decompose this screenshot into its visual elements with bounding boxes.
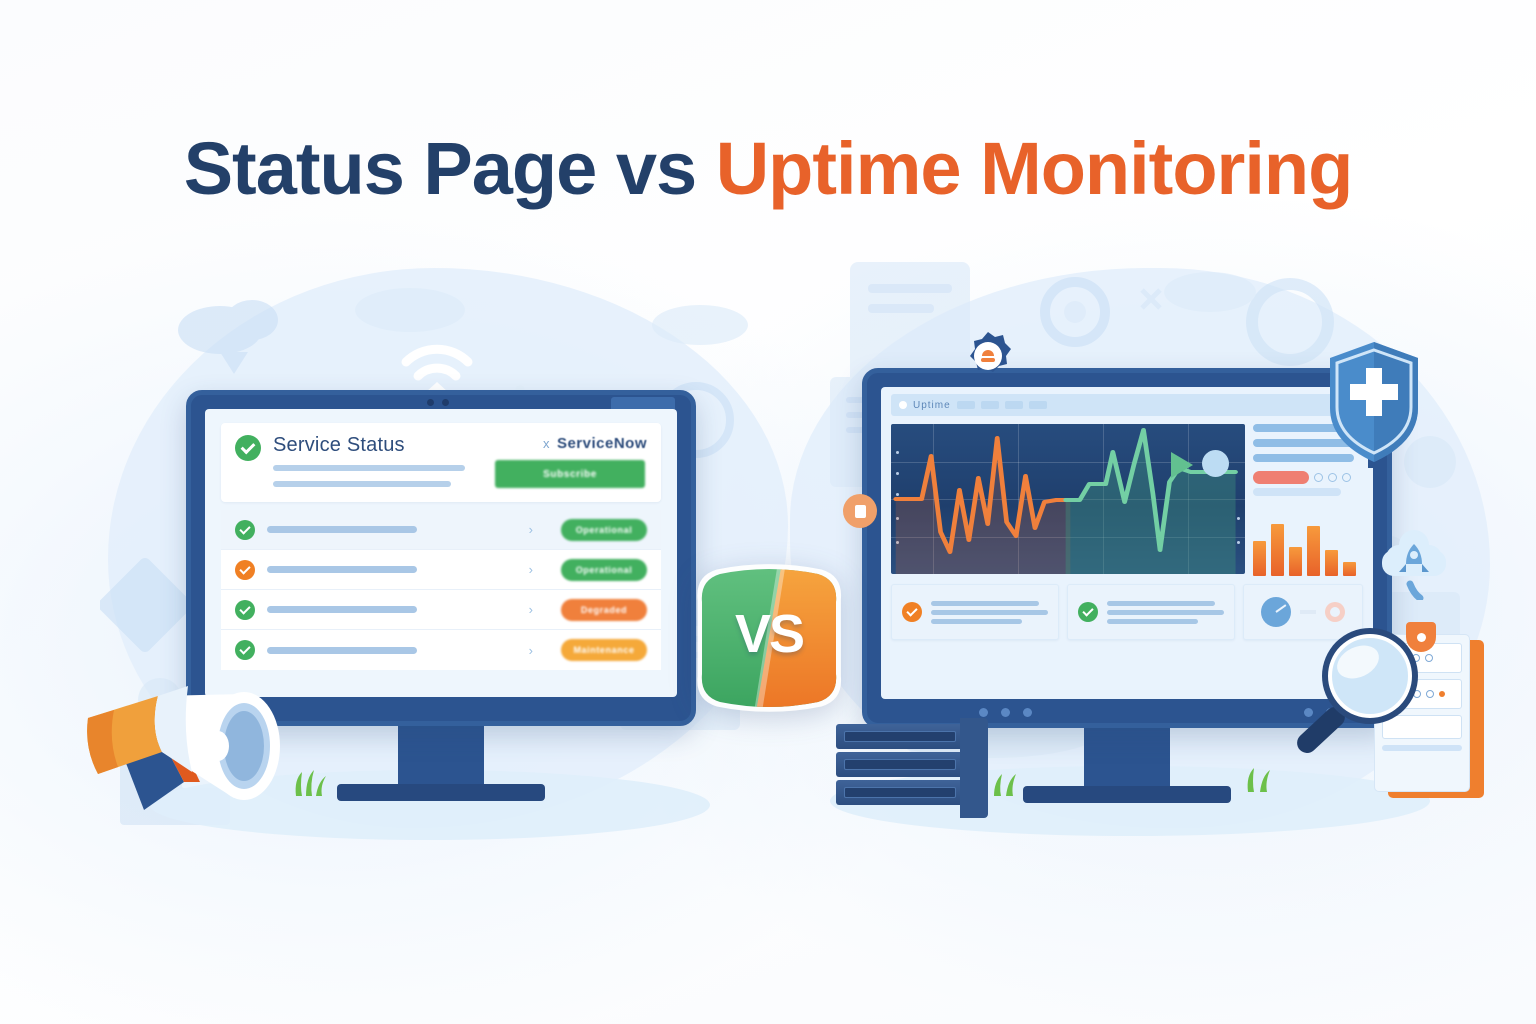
vs-label: VS — [690, 562, 848, 712]
bar — [1325, 550, 1338, 576]
card-text-lines — [931, 597, 1048, 628]
ring-icon — [1328, 473, 1337, 482]
monitor-stand-base-left — [337, 784, 545, 801]
table-row[interactable]: › Degraded — [221, 590, 661, 630]
topbar-segment — [1029, 401, 1047, 409]
rocket-cloud-icon — [1374, 528, 1454, 600]
lock-badge-icon — [843, 494, 877, 528]
grass-decor — [988, 770, 1032, 796]
lock-body — [855, 505, 866, 518]
header-skeleton-line-1 — [273, 465, 465, 471]
sidebar-bar-chart — [1253, 512, 1363, 576]
gear-badge-icon — [962, 330, 1014, 382]
server-rack-icon — [836, 724, 976, 816]
row-meta: › — [429, 562, 549, 577]
title-part-orange: Uptime Monitoring — [716, 127, 1353, 210]
card-status-check-icon — [1078, 602, 1098, 622]
status-badge: Operational — [561, 519, 647, 541]
server-unit — [836, 780, 976, 805]
topbar-segment — [957, 401, 975, 409]
topbar-segment — [1005, 401, 1023, 409]
row-meta: › — [429, 602, 549, 617]
bar — [1271, 524, 1284, 576]
status-badge: Degraded — [561, 599, 647, 621]
title-part-dark: Status Page vs — [184, 127, 716, 210]
server-rack-side — [960, 718, 988, 818]
brand-x-mark: x — [543, 436, 550, 451]
server-unit — [836, 724, 976, 749]
row-status-check-icon — [235, 520, 255, 540]
vs-badge: VS — [690, 562, 848, 712]
bar — [1307, 526, 1320, 576]
sidebar-alert-row — [1253, 471, 1363, 484]
shield-cross-icon — [1326, 338, 1422, 468]
megaphone-icon — [66, 640, 316, 830]
dashboard-topbar: Uptime — [891, 394, 1363, 416]
play-triangle-icon — [1171, 452, 1193, 478]
ring-icon — [1314, 473, 1323, 482]
monitor-stand-neck-left — [398, 726, 484, 784]
dashboard-topbar-label: Uptime — [913, 400, 951, 411]
card-text-lines — [1107, 597, 1224, 628]
brand-logo: x ServiceNow — [487, 435, 647, 452]
ring-icon — [1342, 473, 1351, 482]
illustration-canvas: Status Page vs Uptime Monitoring Service… — [0, 0, 1536, 1024]
alert-pill — [1253, 471, 1309, 484]
row-meta: › — [429, 643, 549, 658]
topbar-dot-icon — [899, 401, 907, 409]
wifi-icon — [398, 336, 476, 398]
bezel-tab-left — [611, 397, 675, 409]
subscribe-button[interactable]: Subscribe — [495, 460, 645, 488]
bar — [1343, 562, 1356, 576]
grass-decor — [288, 768, 332, 796]
bar — [1289, 547, 1302, 576]
row-name-skeleton — [267, 606, 417, 613]
list-item[interactable] — [1067, 584, 1235, 640]
list-item[interactable] — [891, 584, 1059, 640]
table-row[interactable]: › Operational — [221, 550, 661, 590]
overall-status-check-icon — [235, 435, 261, 461]
row-status-check-icon — [235, 560, 255, 580]
server-unit — [836, 752, 976, 777]
grass-decor — [1240, 764, 1284, 792]
row-name-skeleton — [267, 526, 417, 533]
topbar-segment — [981, 401, 999, 409]
status-page-title: Service Status — [273, 435, 475, 455]
row-status-check-icon — [235, 600, 255, 620]
page-title: Status Page vs Uptime Monitoring — [0, 126, 1536, 211]
status-header-right: x ServiceNow Subscribe — [487, 435, 647, 488]
status-badge: Operational — [561, 559, 647, 581]
dashboard-body — [881, 416, 1373, 576]
table-row[interactable]: › Operational — [221, 510, 661, 550]
uptime-line-chart — [891, 424, 1245, 574]
status-header-text-block: Service Status — [273, 435, 475, 487]
header-skeleton-line-2 — [273, 481, 451, 487]
magnifier-icon — [1286, 620, 1426, 770]
gauge-connector — [1300, 610, 1316, 614]
status-badge: Maintenance — [561, 639, 647, 661]
status-page-header-card: Service Status x ServiceNow Subscribe — [221, 423, 661, 502]
brand-name: ServiceNow — [557, 435, 647, 452]
row-name-skeleton — [267, 566, 417, 573]
monitor-stand-base-right — [1023, 786, 1231, 803]
bezel-dots-left-group — [979, 708, 1032, 717]
camera-dots-left — [427, 399, 449, 406]
sidebar-line — [1253, 488, 1341, 496]
status-dot-icon — [1202, 450, 1229, 477]
monitor-stand-neck-right — [1084, 728, 1170, 786]
gauge-indicator-icon — [1325, 602, 1345, 622]
row-meta: › — [429, 522, 549, 537]
bar — [1253, 541, 1266, 576]
card-status-check-icon — [902, 602, 922, 622]
